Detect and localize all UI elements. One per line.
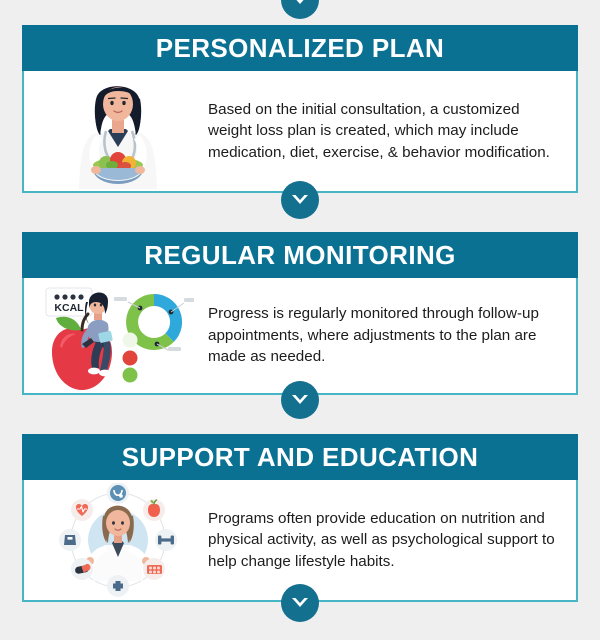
chevron-down-icon bbox=[290, 393, 310, 407]
infographic-root: PERSONALIZED PLAN bbox=[0, 0, 600, 640]
orbit-icon-medical-cross bbox=[107, 575, 129, 597]
doctor-salad-illustration-svg bbox=[66, 73, 170, 189]
orbit-icon-dumbbell bbox=[155, 529, 177, 551]
chevron-down-connector-3 bbox=[281, 584, 319, 622]
page-title: REGULAR MONITORING bbox=[144, 242, 456, 268]
card-description: Based on the initial consultation, a cus… bbox=[202, 99, 560, 164]
chevron-down-icon bbox=[290, 0, 310, 7]
orbit-icon-stethoscope-circle bbox=[107, 483, 129, 504]
card-body: KCAL bbox=[22, 278, 578, 395]
orbit-icon-apple bbox=[143, 499, 165, 521]
chevron-down-connector-1 bbox=[281, 181, 319, 219]
chevron-down-icon bbox=[290, 193, 310, 207]
support-education-illustration-svg bbox=[43, 483, 193, 597]
page-title: PERSONALIZED PLAN bbox=[156, 35, 444, 61]
card-description: Programs often provide education on nutr… bbox=[202, 508, 560, 573]
card-regular-monitoring: REGULAR MONITORING KCAL bbox=[22, 232, 578, 395]
illustration-apple-kcal-monitoring: KCAL bbox=[34, 281, 202, 391]
orbit-icon-weight-scale bbox=[59, 529, 81, 551]
chevron-down-connector-2 bbox=[281, 381, 319, 419]
orbit-icon-pill-pack bbox=[143, 558, 165, 580]
card-header: REGULAR MONITORING bbox=[22, 232, 578, 278]
apple-kcal-donut-illustration-svg: KCAL bbox=[42, 280, 194, 392]
page-title: SUPPORT AND EDUCATION bbox=[122, 444, 479, 470]
illustration-doctor-health-icons-circle bbox=[34, 485, 202, 595]
card-description: Progress is regularly monitored through … bbox=[202, 303, 560, 368]
card-personalized-plan: PERSONALIZED PLAN bbox=[22, 25, 578, 193]
illustration-female-doctor-holding-salad-bowl bbox=[34, 76, 202, 186]
orbit-icon-capsule-pill bbox=[71, 558, 93, 580]
orbit-icon-heart-ecg bbox=[71, 499, 93, 521]
chevron-down-icon bbox=[290, 596, 310, 610]
kcal-label: KCAL bbox=[54, 302, 84, 314]
card-header: PERSONALIZED PLAN bbox=[22, 25, 578, 71]
card-header: SUPPORT AND EDUCATION bbox=[22, 434, 578, 480]
card-body: Based on the initial consultation, a cus… bbox=[22, 71, 578, 193]
card-support-and-education: SUPPORT AND EDUCATION bbox=[22, 434, 578, 602]
chevron-down-connector-top bbox=[281, 0, 319, 19]
